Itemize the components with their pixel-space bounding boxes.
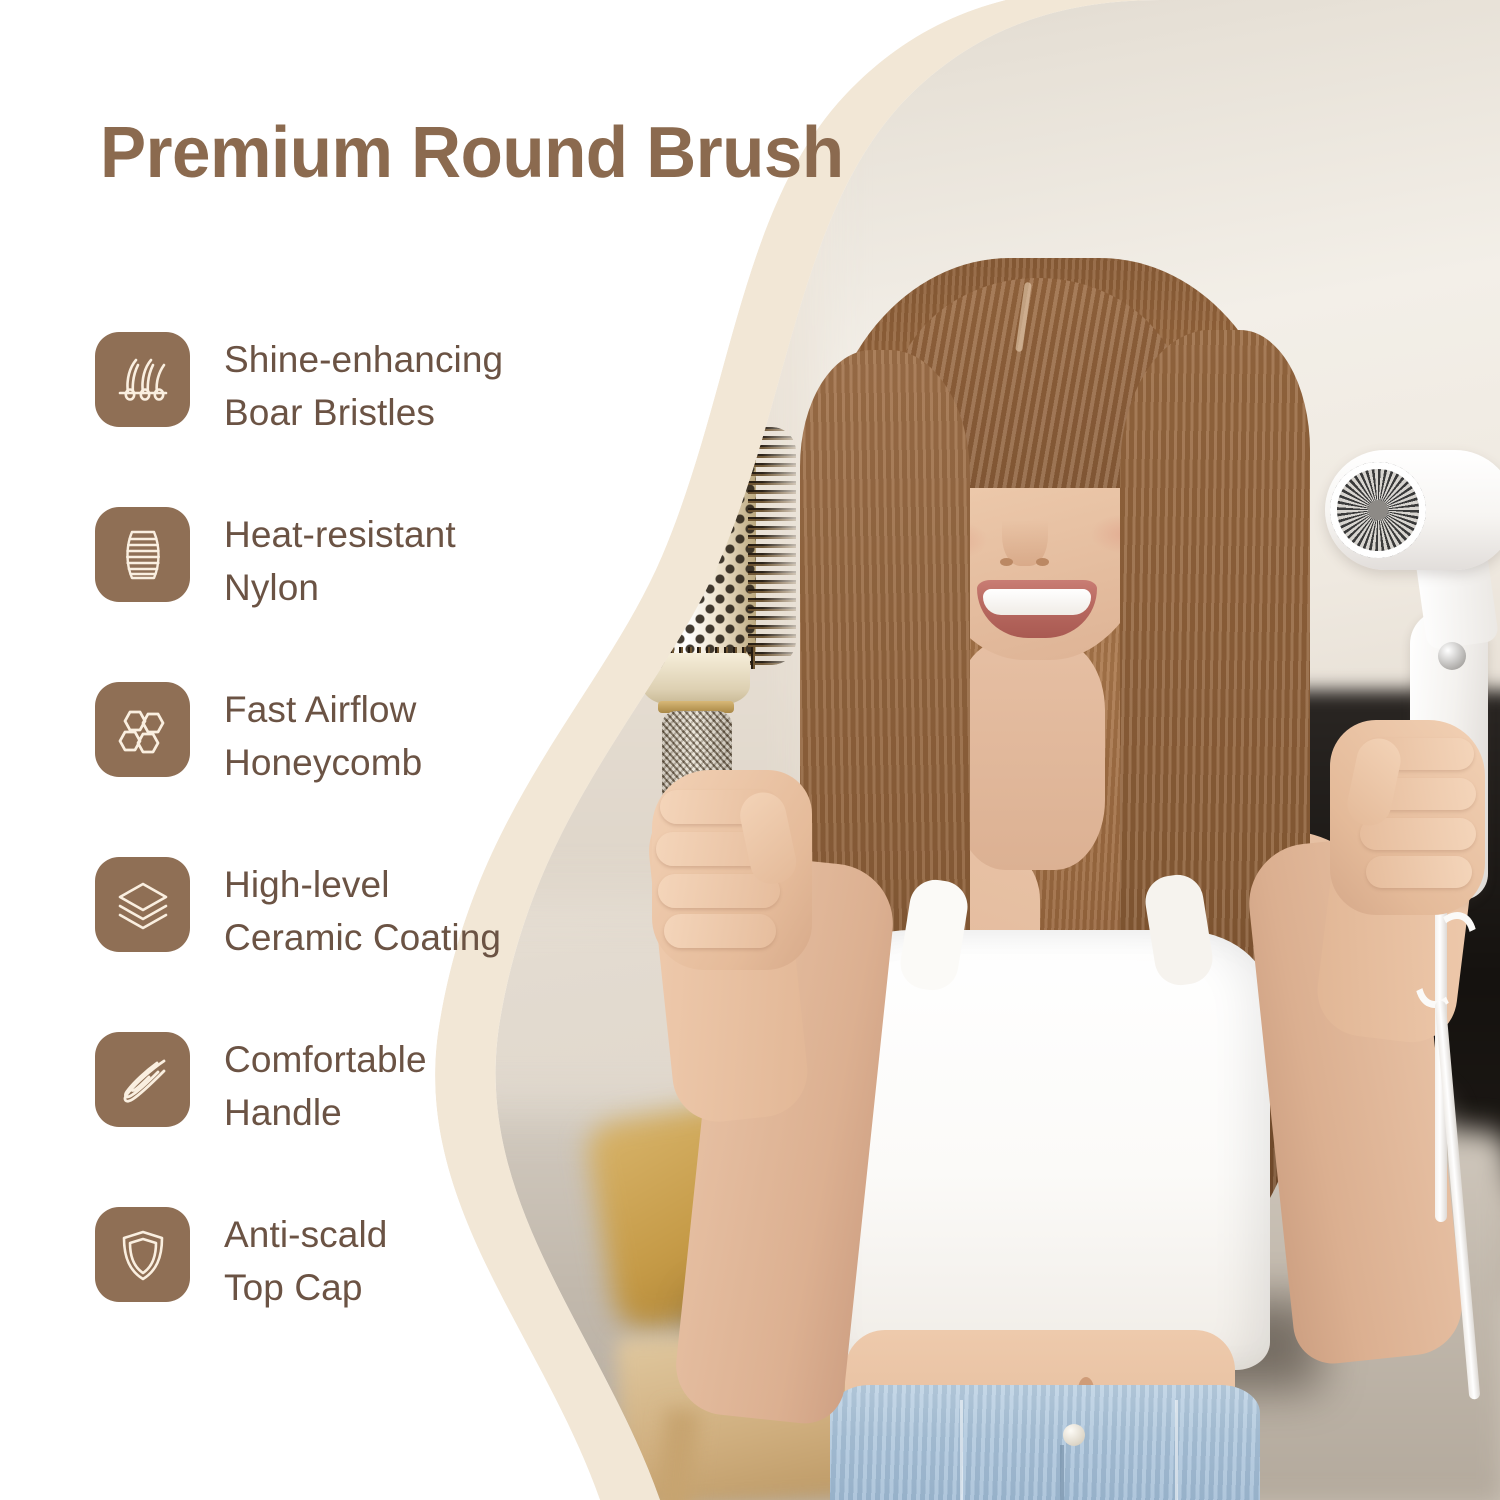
dryer-power-switch	[1438, 642, 1466, 670]
jeans-seam-right	[1175, 1400, 1178, 1500]
finger	[1366, 856, 1472, 888]
feature-label: Heat-resistant Nylon	[224, 507, 456, 615]
white-tank-top	[820, 930, 1270, 1370]
hair-follicle-icon	[95, 332, 190, 427]
brush-top-cap	[635, 395, 757, 439]
brush-ferrule	[642, 653, 750, 705]
feature-item-anti-scald-top-cap: Anti-scald Top Cap	[95, 1207, 615, 1382]
neck	[955, 640, 1105, 870]
feature-item-heat-resistant-nylon: Heat-resistant Nylon	[95, 507, 615, 682]
page-title: Premium Round Brush	[100, 112, 844, 194]
layers-icon	[95, 857, 190, 952]
feature-label: Comfortable Handle	[224, 1032, 427, 1140]
teeth	[983, 589, 1091, 615]
nostril-left	[1000, 558, 1013, 566]
feature-list: Shine-enhancing Boar Bristles Heat-resis…	[95, 332, 615, 1382]
feature-label: Shine-enhancing Boar Bristles	[224, 332, 503, 440]
honeycomb-icon	[95, 682, 190, 777]
bristles-right	[748, 427, 796, 665]
brush-barrel	[636, 433, 756, 658]
grip-handle-icon	[95, 1032, 190, 1127]
feature-item-comfortable-handle: Comfortable Handle	[95, 1032, 615, 1207]
ribbed-barrel-icon	[95, 507, 190, 602]
jeans-seam-left	[960, 1400, 963, 1500]
denim-jeans	[830, 1385, 1260, 1500]
bristles-top	[634, 417, 760, 439]
nostril-right	[1036, 558, 1049, 566]
feature-label: Fast Airflow Honeycomb	[224, 682, 422, 790]
dryer-grille-hub	[1368, 500, 1388, 520]
feature-item-boar-bristles: Shine-enhancing Boar Bristles	[95, 332, 615, 507]
shield-icon	[95, 1207, 190, 1302]
barrel-vent-holes	[636, 433, 756, 658]
infographic-root: Premium Round Brush Shine-enhancing Boar…	[0, 0, 1500, 1500]
feature-label: High-level Ceramic Coating	[224, 857, 501, 965]
jeans-fly	[1060, 1445, 1064, 1500]
finger	[664, 914, 776, 948]
feature-item-fast-airflow-honeycomb: Fast Airflow Honeycomb	[95, 682, 615, 857]
jeans-button	[1063, 1424, 1085, 1446]
nose	[1002, 490, 1048, 566]
feature-label: Anti-scald Top Cap	[224, 1207, 387, 1315]
feature-item-ceramic-coating: High-level Ceramic Coating	[95, 857, 615, 1032]
